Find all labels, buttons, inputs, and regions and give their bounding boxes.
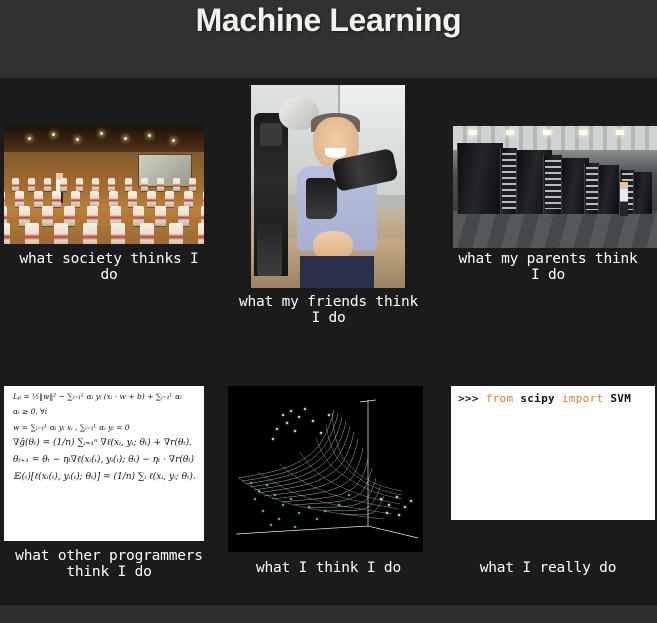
equation-line: Lₚ = ½‖w‖² − ∑ᵢ₌₁ᴸ αᵢ yᵢ (xᵢ · w + b) + …	[13, 393, 195, 401]
panel-caption: what my friends think I do	[219, 294, 438, 326]
equation-line: w = ∑ᵢ₌₁ᴸ αᵢ yᵢ xᵢ , ∑ᵢ₌₁ᴸ αᵢ yᵢ = 0	[13, 424, 195, 432]
panel-caption: what I really do	[439, 560, 657, 576]
meme-grid: what society thinks I do	[0, 60, 657, 605]
man-with-robot-arm-photo	[251, 85, 405, 288]
equation-line: αᵢ ≥ 0, ∀i	[13, 408, 195, 416]
equation-line: ∇ĝ(θₜ) = (1/n) ∑ᵢ₌₁ⁿ ∇ℓ(xᵢ, yᵢ; θₜ) + ∇r…	[13, 439, 195, 449]
equation-line: 𝔼ᵢ(ₜ)[ℓ(xᵢ(ₜ), yᵢ(ₜ); θₜ)] = (1/n) ∑ᵢ ℓ(…	[13, 473, 195, 483]
panel-caption: what I think I do	[219, 560, 438, 576]
panel-i-think: what I think I do	[219, 338, 438, 605]
3d-svm-decision-surface-plot	[228, 386, 423, 552]
supercomputer-data-center-photo	[453, 126, 657, 248]
equation-line: θₜ₊₁ = θₜ − ηₜ∇ℓ(xᵢ(ₜ), yᵢ(ₜ); θₜ) − ηₜ …	[13, 456, 195, 466]
imported-symbol: SVM	[603, 392, 631, 405]
math-equations-image: Lₚ = ½‖w‖² − ∑ᵢ₌₁ᴸ αᵢ yᵢ (xᵢ · w + b) + …	[4, 386, 204, 541]
keyword-import: import	[562, 392, 604, 405]
python-repl-screenshot: >>> from scipy import SVM	[451, 386, 655, 520]
code-line: >>> from scipy import SVM	[458, 392, 631, 405]
panel-caption: what other programmers think I do	[0, 548, 218, 580]
module-name: scipy	[513, 392, 561, 405]
panel-caption: what my parents think I do	[439, 251, 657, 283]
mesh-surface-svg	[228, 386, 423, 552]
panel-parents: what my parents think I do	[439, 60, 657, 338]
panel-caption: what society thinks I do	[0, 251, 218, 283]
panel-other-programmers: Lₚ = ½‖w‖² − ∑ᵢ₌₁ᴸ αᵢ yᵢ (xᵢ · w + b) + …	[0, 338, 218, 605]
meme-footer	[0, 605, 657, 623]
page-title: Machine Learning	[0, 2, 657, 39]
repl-prompt: >>>	[458, 392, 486, 405]
panel-society: what society thinks I do	[0, 60, 218, 338]
lecture-hall-of-robots-photo	[4, 126, 204, 244]
keyword-from: from	[486, 392, 514, 405]
panel-friends: what my friends think I do	[219, 60, 438, 338]
panel-i-really: >>> from scipy import SVM what I really …	[439, 338, 657, 605]
meme-image: Machine Learning	[0, 0, 657, 623]
